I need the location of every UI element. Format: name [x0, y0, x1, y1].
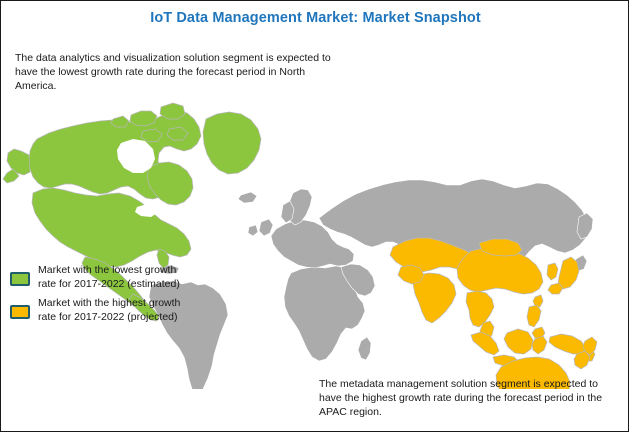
map-region-apac: [390, 238, 595, 389]
legend-swatch-green-icon: [10, 272, 30, 286]
market-snapshot-slide: IoT Data Management Market: Market Snaps…: [0, 0, 629, 432]
callout-north-america: The data analytics and visualization sol…: [15, 51, 345, 93]
legend-item-highest-growth[interactable]: Market with the highest growth rate for …: [10, 296, 185, 324]
world-map-svg: [1, 89, 629, 389]
legend-swatch-orange-icon: [10, 305, 30, 319]
legend-label-highest-growth: Market with the highest growth rate for …: [38, 296, 185, 324]
legend-label-lowest-growth: Market with the lowest growth rate for 2…: [38, 263, 185, 291]
world-map: [1, 89, 629, 389]
callout-apac: The metadata management solution segment…: [319, 377, 621, 419]
map-legend: Market with the lowest growth rate for 2…: [10, 263, 185, 329]
legend-item-lowest-growth[interactable]: Market with the lowest growth rate for 2…: [10, 263, 185, 291]
page-title: IoT Data Management Market: Market Snaps…: [1, 10, 629, 26]
